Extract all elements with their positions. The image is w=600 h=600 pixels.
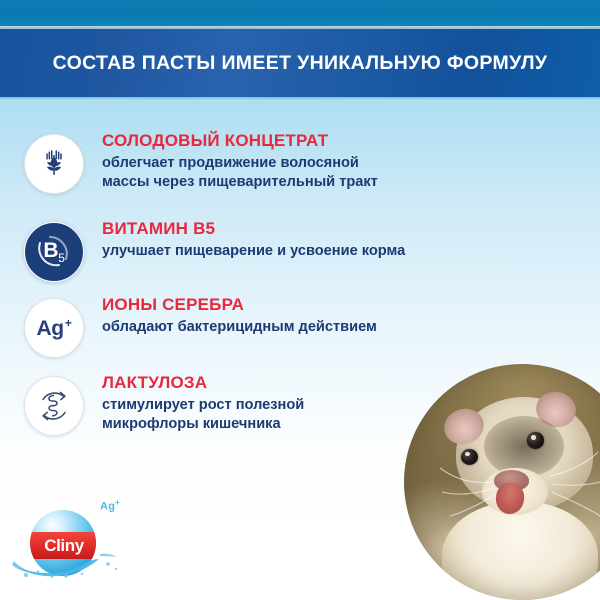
feature-text: ВИТАМИН В5 улучшает пищеварение и усвоен…	[102, 218, 405, 261]
header-banner: СОСТАВ ПАСТЫ ИМЕЕТ УНИКАЛЬНУЮ ФОРМУЛУ	[0, 29, 600, 97]
feature-line-1: обладают бактерицидным действием	[102, 318, 377, 337]
poster-root: СОСТАВ ПАСТЫ ИМЕЕТ УНИКАЛЬНУЮ ФОРМУЛУ	[0, 0, 600, 600]
feature-title: ЛАКТУЛОЗА	[102, 373, 304, 393]
cliny-logo: Ag+ Cliny	[12, 498, 124, 580]
badge-label: B5	[43, 240, 64, 264]
feature-line-1: стимулирует рост полезной	[102, 396, 304, 415]
feature-line-1: облегчает продвижение волосяной	[102, 154, 378, 173]
intestine-arrows-icon	[24, 376, 84, 436]
feature-item-malt: СОЛОДОВЫЙ КОНЦЕТРАТ облегчает продвижени…	[24, 130, 504, 218]
wheat-ear-icon	[24, 134, 84, 194]
feature-title: ВИТАМИН В5	[102, 219, 405, 239]
top-color-strip	[0, 0, 600, 26]
feature-text: ЛАКТУЛОЗА стимулирует рост полезной микр…	[102, 372, 304, 433]
feature-text: ИОНЫ СЕРЕБРА обладают бактерицидным дейс…	[102, 294, 377, 337]
page-title: СОСТАВ ПАСТЫ ИМЕЕТ УНИКАЛЬНУЮ ФОРМУЛУ	[53, 52, 548, 75]
feature-line-2: массы через пищеварительный тракт	[102, 173, 378, 192]
logo-silver-mark: Ag+	[100, 498, 120, 513]
vitamin-b5-icon: B5	[24, 222, 84, 282]
banner-underline	[0, 97, 600, 101]
logo-water-splash	[12, 550, 124, 578]
silver-ions-icon: Ag+	[24, 298, 84, 358]
feature-title: ИОНЫ СЕРЕБРА	[102, 295, 377, 315]
badge-label: Ag+	[36, 317, 71, 339]
feature-line-2: микрофлоры кишечника	[102, 415, 304, 434]
feature-text: СОЛОДОВЫЙ КОНЦЕТРАТ облегчает продвижени…	[102, 130, 378, 191]
feature-item-silver-ions: Ag+ ИОНЫ СЕРЕБРА обладают бактерицидным …	[24, 294, 504, 372]
feature-item-vitamin-b5: B5 ВИТАМИН В5 улучшает пищеварение и усв…	[24, 218, 504, 294]
feature-title: СОЛОДОВЫЙ КОНЦЕТРАТ	[102, 131, 378, 151]
feature-line-1: улучшает пищеварение и усвоение корма	[102, 242, 405, 261]
ferret-photo	[404, 364, 600, 600]
